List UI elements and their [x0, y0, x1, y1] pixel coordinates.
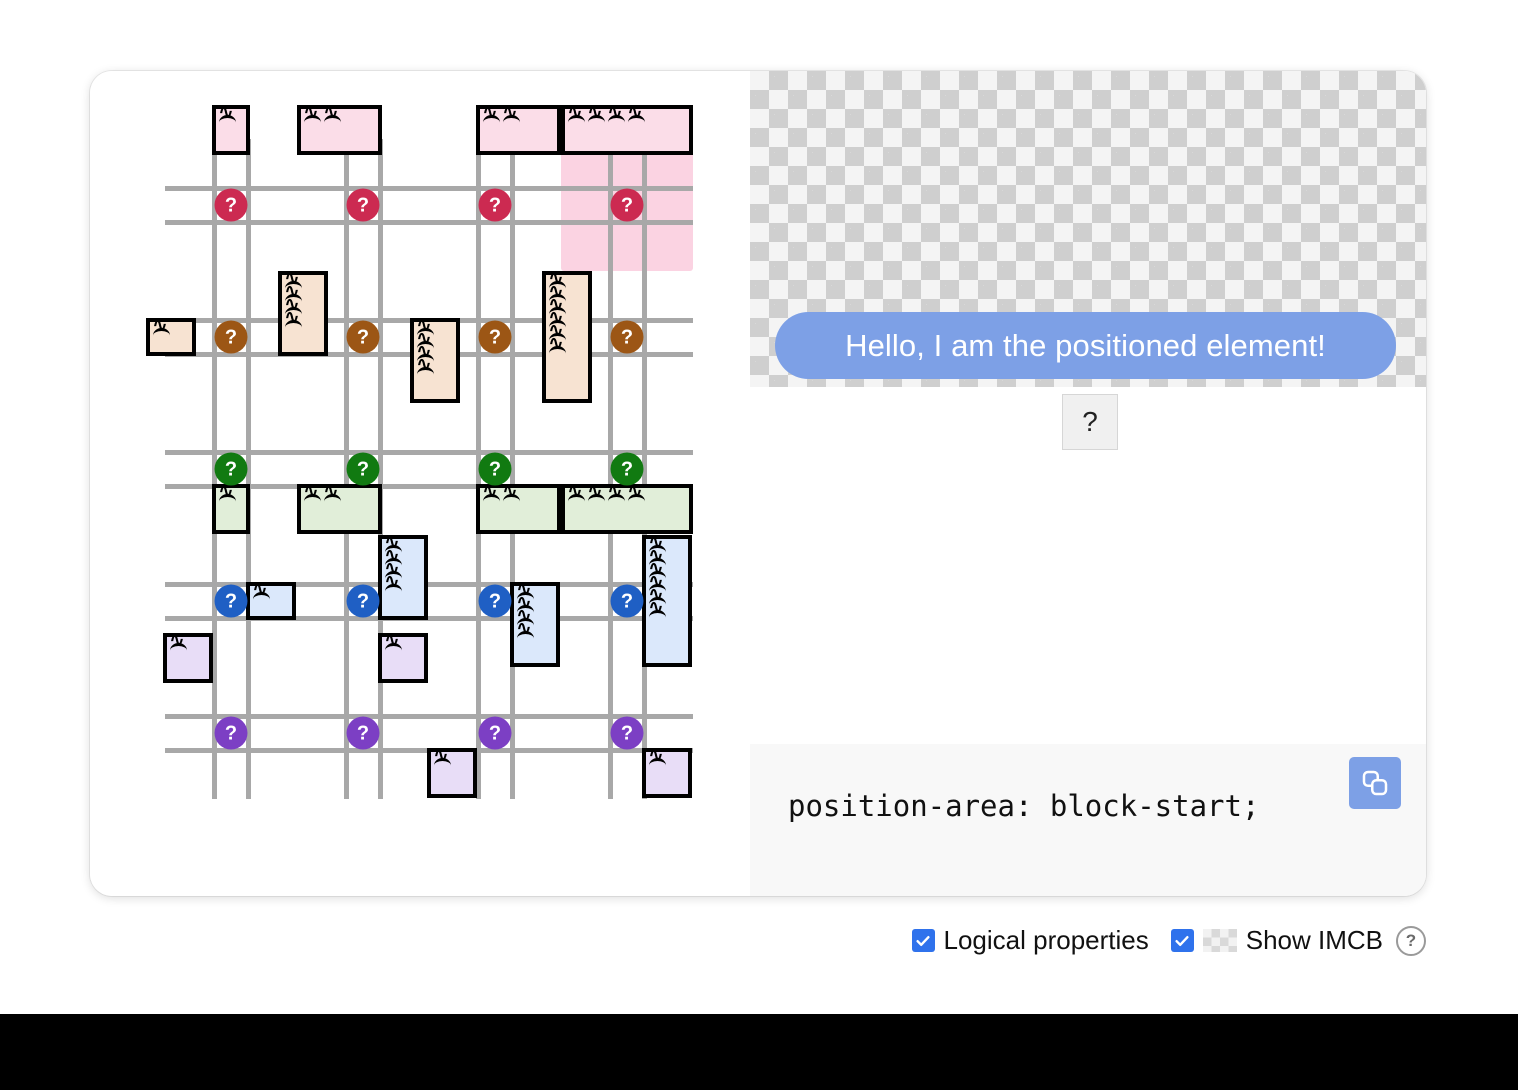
positioned-box-preview: [163, 633, 213, 683]
text-wave-glyph: [169, 640, 189, 653]
containing-block-gridlines: ?: [445, 287, 545, 387]
position-area-cell[interactable]: ?: [429, 535, 561, 667]
text-wave-glyph: [152, 325, 172, 338]
position-area-cell[interactable]: ?: [165, 403, 297, 535]
positioned-box-preview: [212, 105, 250, 155]
position-area-visualizer-card: ???????????????????? Hello, I am the pos…: [90, 71, 1426, 896]
text-wave-glyph: [548, 343, 568, 356]
position-area-cell[interactable]: ?: [297, 139, 429, 271]
copy-icon: [1360, 768, 1390, 798]
logical-properties-control[interactable]: Logical properties: [912, 925, 1149, 956]
containing-block-gridlines: ?: [445, 155, 545, 255]
text-wave-glyph: [323, 112, 343, 125]
text-wave-glyph: [303, 491, 323, 504]
bottom-strip: [0, 1014, 1518, 1090]
positioned-element-bubble: Hello, I am the positioned element!: [775, 312, 1396, 379]
text-wave-glyph: [384, 581, 404, 594]
app-root: ???????????????????? Hello, I am the pos…: [0, 0, 1518, 1090]
positioned-box-preview: [510, 582, 560, 667]
positioned-box-preview: [146, 318, 196, 356]
position-area-cell[interactable]: ?: [429, 403, 561, 535]
anchor-dot-icon: ?: [215, 453, 248, 486]
position-area-cell[interactable]: ?: [561, 271, 693, 403]
code-pane: position-area: block-start;: [750, 744, 1426, 896]
text-wave-glyph: [218, 491, 238, 504]
containing-block-gridlines: ?: [313, 155, 413, 255]
logical-properties-checkbox[interactable]: [912, 929, 935, 952]
anchor-dot-icon: ?: [479, 585, 512, 618]
positioned-box-preview: [410, 318, 460, 403]
containing-block-gridlines: ?: [577, 287, 677, 387]
containing-block-gridlines: ?: [181, 419, 281, 519]
footer-controls: Logical properties Show IMCB ?: [0, 925, 1518, 956]
position-area-cell[interactable]: ?: [429, 139, 561, 271]
text-wave-glyph: [384, 640, 404, 653]
check-icon: [915, 933, 931, 949]
text-wave-glyph: [502, 112, 522, 125]
text-wave-glyph: [218, 112, 238, 125]
text-wave-glyph: [587, 491, 607, 504]
position-area-cell[interactable]: ?: [297, 403, 429, 535]
anchor-dot-icon: ?: [215, 189, 248, 222]
anchor-dot-icon: ?: [215, 717, 248, 750]
containing-block-gridlines: ?: [181, 155, 281, 255]
position-area-picker: ????????????????????: [90, 71, 750, 896]
text-wave-glyph: [648, 755, 668, 768]
logical-properties-label: Logical properties: [944, 925, 1149, 956]
positioned-box-preview: [297, 484, 382, 534]
copy-button[interactable]: [1349, 757, 1401, 809]
positioned-box-preview: [561, 484, 693, 534]
containing-block-gridlines: ?: [577, 419, 677, 519]
text-wave-glyph: [607, 491, 627, 504]
show-imcb-checkbox[interactable]: [1171, 929, 1194, 952]
position-area-grid[interactable]: ????????????????????: [165, 139, 693, 799]
positioned-box-preview: [378, 535, 428, 620]
anchor-dot-icon: ?: [479, 717, 512, 750]
containing-block-gridlines: ?: [313, 683, 413, 783]
anchor-dot-icon: ?: [611, 453, 644, 486]
containing-block-gridlines: ?: [181, 683, 281, 783]
containing-block-gridlines: ?: [445, 551, 545, 651]
anchor-element[interactable]: ?: [1062, 394, 1118, 450]
containing-block-gridlines: ?: [313, 419, 413, 519]
text-wave-glyph: [648, 607, 668, 620]
show-imcb-control[interactable]: Show IMCB: [1171, 925, 1383, 956]
containing-block-gridlines: ?: [577, 155, 677, 255]
containing-block-gridlines: ?: [577, 551, 677, 651]
position-area-cell[interactable]: ?: [561, 139, 693, 271]
anchor-dot-icon: ?: [215, 585, 248, 618]
text-wave-glyph: [284, 317, 304, 330]
positioned-box-preview: [476, 105, 561, 155]
position-area-cell[interactable]: ?: [165, 139, 297, 271]
positioned-box-preview: [427, 748, 477, 798]
position-area-cell[interactable]: ?: [297, 667, 429, 799]
containing-block-gridlines: ?: [577, 683, 677, 783]
anchor-dot-icon: ?: [479, 321, 512, 354]
positioned-box-preview: [246, 582, 296, 620]
anchor-dot-icon: ?: [611, 189, 644, 222]
anchor-dot-icon: ?: [611, 321, 644, 354]
containing-block-gridlines: ?: [445, 683, 545, 783]
anchor-dot-icon: ?: [479, 453, 512, 486]
text-wave-glyph: [607, 112, 627, 125]
check-icon: [1174, 933, 1190, 949]
anchor-dot-icon: ?: [215, 321, 248, 354]
positioned-box-preview: [542, 271, 592, 403]
containing-block-gridlines: ?: [445, 419, 545, 519]
anchor-dot-icon: ?: [347, 321, 380, 354]
anchor-dot-icon: ?: [479, 189, 512, 222]
text-wave-glyph: [323, 491, 343, 504]
positioned-box-preview: [212, 484, 250, 534]
anchor-dot-icon: ?: [347, 717, 380, 750]
position-area-cell[interactable]: ?: [429, 667, 561, 799]
containing-block-gridlines: ?: [181, 287, 281, 387]
text-wave-glyph: [482, 491, 502, 504]
anchor-dot-icon: ?: [611, 717, 644, 750]
positioned-box-preview: [476, 484, 561, 534]
text-wave-glyph: [627, 491, 647, 504]
containing-block-gridlines: ?: [313, 287, 413, 387]
positioned-box-preview: [378, 633, 428, 683]
code-declaration: position-area: block-start;: [788, 789, 1259, 823]
preview-panel: Hello, I am the positioned element! ? po…: [750, 71, 1426, 896]
show-imcb-label: Show IMCB: [1246, 925, 1383, 956]
positioned-box-preview: [642, 535, 692, 667]
positioned-box-preview: [561, 105, 693, 155]
text-wave-glyph: [567, 112, 587, 125]
text-wave-glyph: [627, 112, 647, 125]
text-wave-glyph: [416, 364, 436, 377]
position-area-cell[interactable]: ?: [561, 403, 693, 535]
positioned-box-preview: [642, 748, 692, 798]
text-wave-glyph: [502, 491, 522, 504]
text-wave-glyph: [587, 112, 607, 125]
position-area-cell[interactable]: ?: [561, 667, 693, 799]
text-wave-glyph: [252, 589, 272, 602]
text-wave-glyph: [303, 112, 323, 125]
anchor-dot-icon: ?: [347, 189, 380, 222]
anchor-dot-icon: ?: [347, 585, 380, 618]
help-icon[interactable]: ?: [1396, 926, 1426, 956]
position-area-cell[interactable]: ?: [561, 535, 693, 667]
anchor-dot-icon: ?: [347, 453, 380, 486]
imcb-swatch-icon: [1203, 929, 1237, 952]
position-area-cell[interactable]: ?: [165, 667, 297, 799]
text-wave-glyph: [567, 491, 587, 504]
positioned-box-preview: [297, 105, 382, 155]
positioned-box-preview: [278, 271, 328, 356]
anchor-dot-icon: ?: [611, 585, 644, 618]
text-wave-glyph: [516, 628, 536, 641]
text-wave-glyph: [433, 755, 453, 768]
text-wave-glyph: [482, 112, 502, 125]
